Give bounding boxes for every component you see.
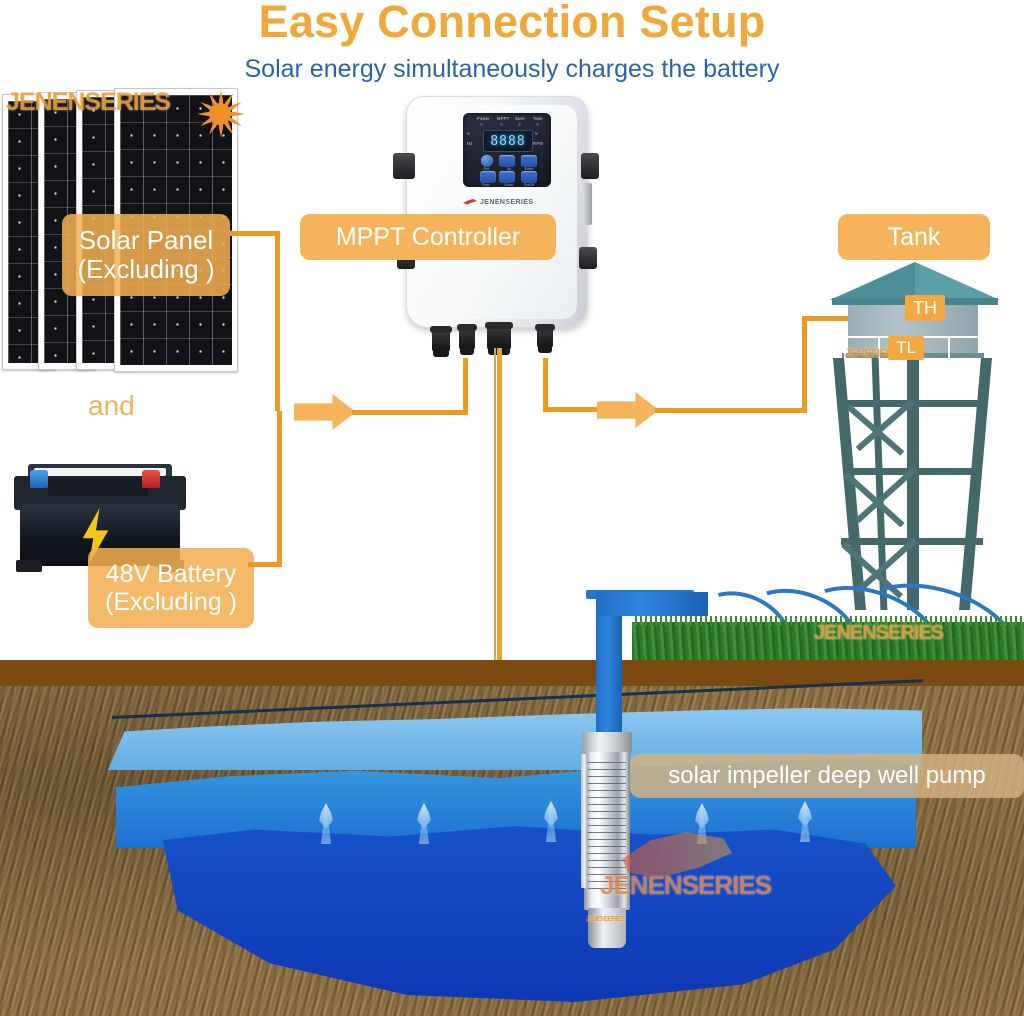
panel-label-tank: Tank — [533, 116, 543, 121]
label-tank-low: TL — [888, 336, 924, 360]
button-cap-set: Set — [476, 167, 496, 171]
mppt-controller-unit[interactable]: Power MPPT Start Tank 8888 A Hz V RPM Se… — [406, 96, 588, 328]
controller-button-set[interactable] — [481, 155, 493, 167]
sun-icon — [198, 92, 242, 136]
controller-button-up[interactable] — [499, 155, 515, 167]
button-cap-enter: Enter — [519, 167, 539, 171]
label-mppt-controller-text: MPPT Controller — [300, 214, 556, 260]
controller-bracket-left-top — [393, 153, 415, 179]
infographic-canvas: Easy Connection Setup Solar energy simul… — [0, 0, 1024, 1016]
wire-arrow1-to-controller — [352, 410, 468, 415]
side-label-hz: Hz — [467, 141, 473, 146]
wire-solar-to-bus-horizontal — [230, 231, 280, 236]
wire-into-gland-2 — [463, 358, 468, 414]
controller-button-onoff[interactable] — [521, 171, 537, 183]
submersible-pump: JENENSERIES — [578, 732, 636, 948]
battery-terminal-positive — [142, 470, 160, 488]
cable-gland-4 — [537, 328, 553, 348]
wire-solar-vertical — [275, 231, 280, 411]
arrow-left-to-controller — [294, 394, 356, 430]
panel-label-power: Power — [477, 116, 490, 121]
controller-button-enter[interactable] — [521, 155, 537, 167]
controller-bracket-right-top — [581, 153, 599, 179]
brand-mark-icon — [463, 199, 477, 206]
label-battery-line2: (Excluding ) — [105, 588, 237, 616]
arrow-controller-to-tank — [597, 392, 659, 428]
pump-head-cap — [582, 732, 632, 754]
controller-brand: JENENSERIES — [463, 199, 533, 206]
side-label-a: A — [467, 131, 470, 136]
label-solar-panel-line1: Solar Panel — [79, 226, 213, 255]
button-cap-up: Up — [499, 167, 519, 171]
controller-led-readout: 8888 — [483, 130, 533, 152]
cable-gland-3 — [487, 326, 511, 350]
brand-watermark-grass: JENENSERIES — [814, 622, 943, 645]
tank-rail-post-3 — [948, 336, 950, 358]
led-digits: 8888 — [490, 134, 525, 149]
label-tank-high: TH — [905, 295, 945, 321]
brand-watermark-panel: JENENSERIES — [6, 88, 170, 117]
panel-label-mppt: MPPT — [497, 116, 509, 121]
side-label-v: V — [535, 131, 538, 136]
wire-tank-vertical — [802, 316, 807, 412]
button-cap-func: Func — [476, 183, 496, 187]
wire-out-gland-4 — [543, 358, 548, 410]
label-solar-panel: Solar Panel (Excluding ) — [62, 214, 230, 296]
label-pump-text: solar impeller deep well pump — [630, 754, 1024, 798]
battery-terminal-negative — [30, 470, 48, 488]
controller-button-func[interactable] — [480, 171, 496, 183]
wire-arrow2-to-tank — [655, 408, 807, 413]
label-solar-panel-line2: (Excluding ) — [77, 255, 214, 284]
brand-watermark-center: JENENSERIES — [600, 870, 771, 901]
pump-motor-section — [588, 908, 626, 948]
cable-gland-1 — [432, 330, 450, 352]
controller-display-panel[interactable]: Power MPPT Start Tank 8888 A Hz V RPM Se… — [463, 113, 551, 187]
button-cap-down: Down — [499, 183, 519, 187]
label-tank-high-text: TH — [913, 298, 937, 319]
aquifer-group — [0, 686, 1024, 1016]
cable-gland-2 — [459, 328, 475, 350]
controller-bracket-right-bot — [579, 247, 597, 269]
pump-cable-strap — [581, 754, 588, 888]
label-battery-line1: 48V Battery — [106, 560, 237, 588]
pump-riser-pipe-top — [596, 592, 708, 616]
pump-riser-pipe-vertical — [596, 592, 622, 752]
wire-battery-vertical — [277, 411, 282, 567]
controller-side-fin — [584, 183, 592, 225]
page-title: Easy Connection Setup — [0, 0, 1024, 48]
panel-label-start: Start — [515, 116, 525, 121]
controller-brand-text: JENENSERIES — [480, 199, 533, 206]
label-tank-text: Tank — [838, 214, 990, 260]
page-subtitle: Solar energy simultaneously charges the … — [0, 55, 1024, 84]
water-layer-deep — [132, 826, 896, 1002]
label-tank-low-text: TL — [896, 338, 916, 358]
brand-watermark-pump: JENENSERIES — [586, 916, 624, 923]
side-label-rpm: RPM — [533, 141, 543, 146]
controller-button-down[interactable] — [499, 171, 515, 183]
wire-gland4-horizontal — [543, 407, 599, 412]
label-and: and — [88, 390, 135, 422]
tank-roof-shadow — [830, 262, 915, 300]
button-cap-onoff: On/Off — [519, 183, 539, 187]
label-48v-battery: 48V Battery (Excluding ) — [88, 548, 254, 628]
